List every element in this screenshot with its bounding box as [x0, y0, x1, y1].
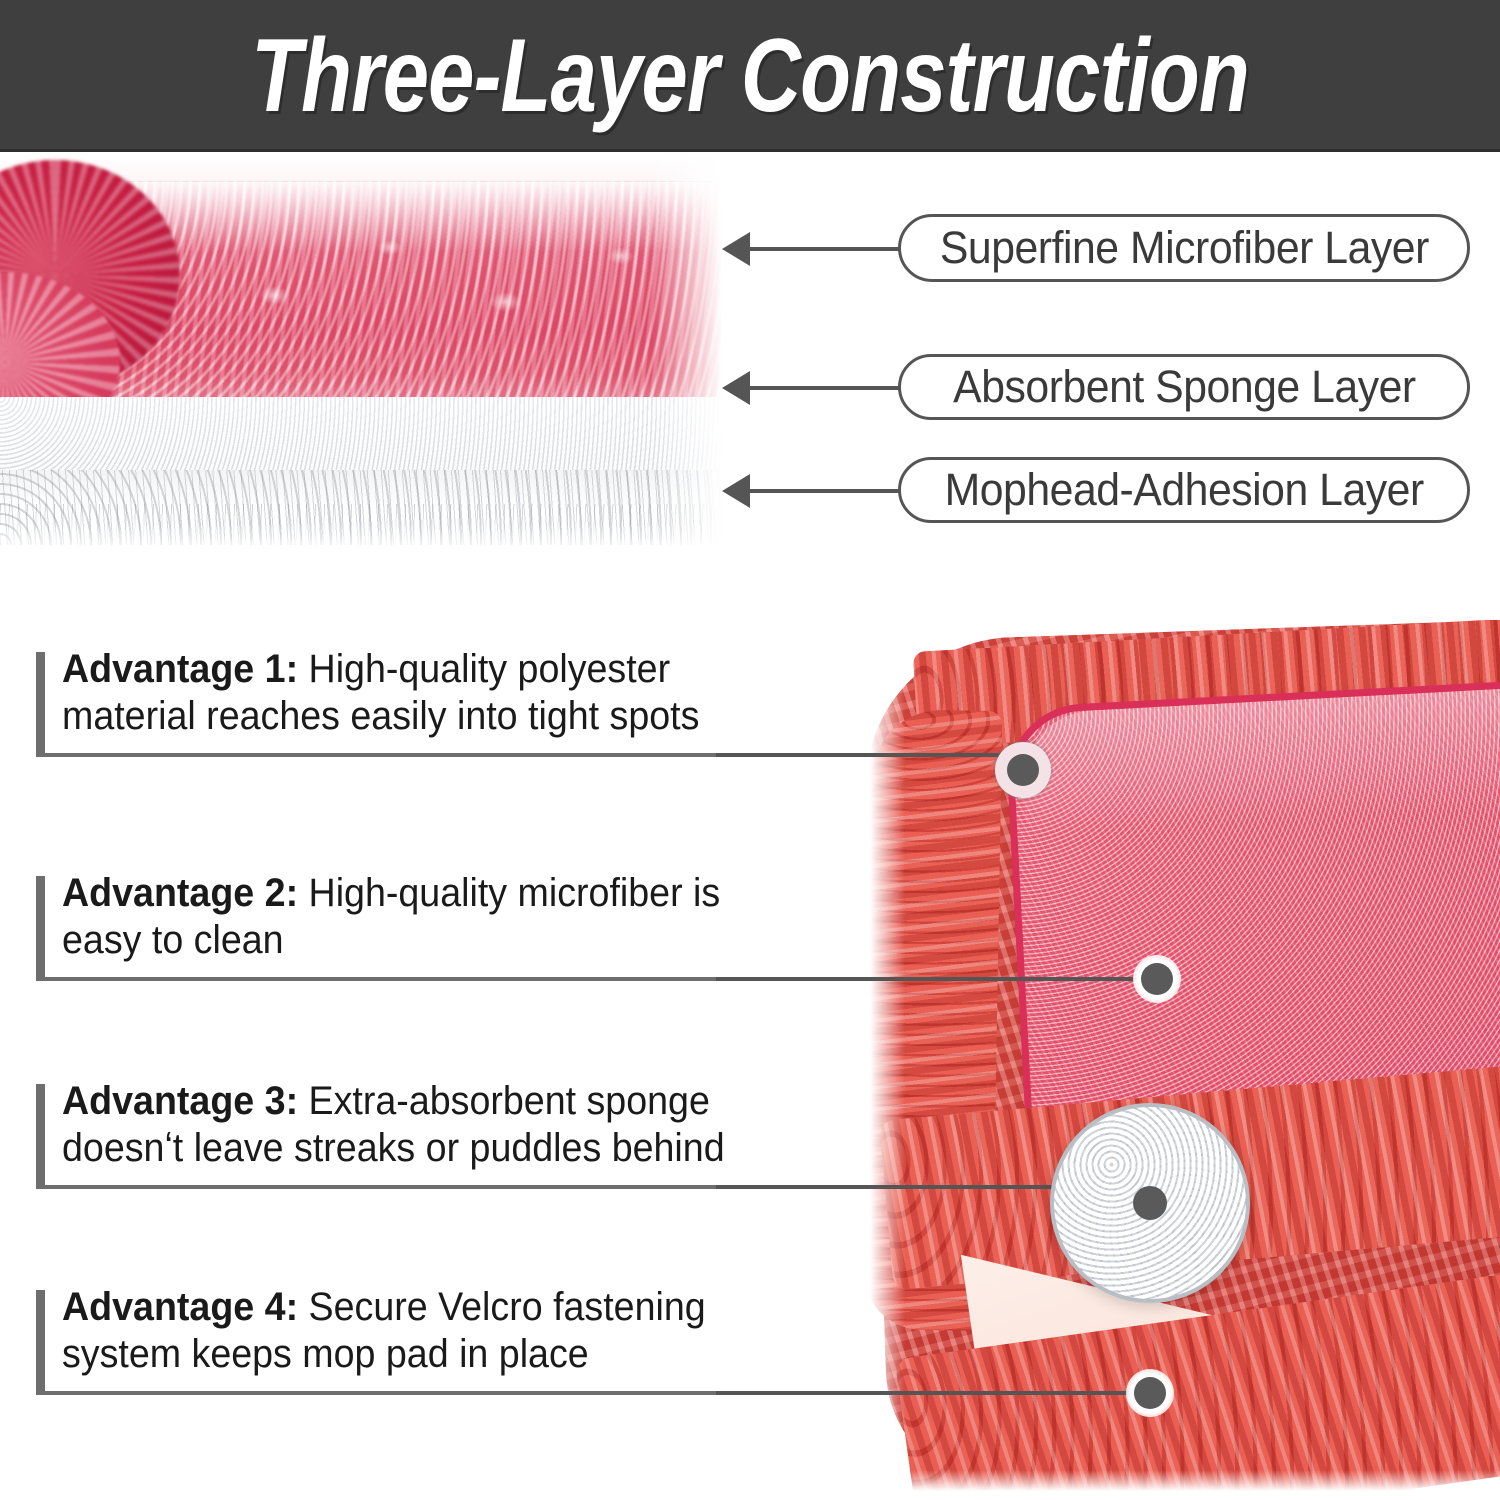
photo-bottom-fade	[845, 1470, 1500, 1500]
sponge-magnifier-circle	[1050, 1103, 1250, 1303]
advantage-title: Advantage 1:	[62, 647, 298, 691]
advantage-2-underline	[36, 977, 716, 981]
advantage-title: Advantage 3:	[62, 1079, 298, 1123]
callout-label: Absorbent Sponge Layer	[953, 361, 1416, 413]
callout-superfine-microfiber-layer: Superfine Microfiber Layer	[898, 214, 1470, 282]
callout-absorbent-sponge-layer: Absorbent Sponge Layer	[898, 354, 1470, 420]
advantage-1-underline	[36, 753, 716, 757]
advantage-text: Advantage 2: High-quality microfiber is …	[62, 870, 776, 964]
leader-line-sponge	[748, 386, 900, 390]
infographic-canvas: Three-Layer Construction Superfine Micro…	[0, 0, 1500, 1500]
arrow-icon-adhesion	[722, 474, 750, 508]
advantage-accent-bar	[36, 652, 45, 756]
advantage-title: Advantage 2:	[62, 871, 298, 915]
arrow-icon-microfiber	[722, 232, 750, 266]
photo-left-fade	[845, 620, 905, 1500]
advantage-2-hotspot-dot	[1133, 955, 1181, 1003]
advantage-1-leader-line	[716, 753, 1016, 757]
advantage-3-underline	[36, 1185, 716, 1189]
advantage-text: Advantage 1: High-quality polyester mate…	[62, 646, 776, 740]
advantage-text: Advantage 3: Extra-absorbent sponge does…	[62, 1078, 776, 1172]
leader-line-adhesion	[748, 489, 900, 493]
advantage-4-underline	[36, 1391, 716, 1395]
arrow-icon-sponge	[722, 371, 750, 405]
leader-line-microfiber	[748, 247, 900, 251]
advantage-accent-bar	[36, 876, 45, 980]
advantage-accent-bar	[36, 1290, 45, 1394]
advantage-text: Advantage 4: Secure Velcro fastening sys…	[62, 1284, 776, 1378]
advantage-accent-bar	[36, 1084, 45, 1188]
photo-right-fade	[652, 152, 722, 552]
advantage-2-leader-line	[716, 977, 1158, 981]
advantage-4-hotspot-dot	[1126, 1369, 1174, 1417]
advantage-4-leader-line	[716, 1391, 1150, 1395]
callout-mophead-adhesion-layer: Mophead-Adhesion Layer	[898, 457, 1470, 523]
photo-bottom-fade	[0, 524, 722, 552]
mop-pad-photo	[845, 620, 1500, 1500]
callout-label: Superfine Microfiber Layer	[939, 222, 1428, 274]
callout-label: Mophead-Adhesion Layer	[944, 464, 1423, 516]
advantage-title: Advantage 4:	[62, 1285, 298, 1329]
cross-section-photo	[0, 152, 722, 552]
advantage-1-hotspot-dot	[995, 742, 1051, 798]
page-title: Three-Layer Construction	[150, 0, 1350, 152]
